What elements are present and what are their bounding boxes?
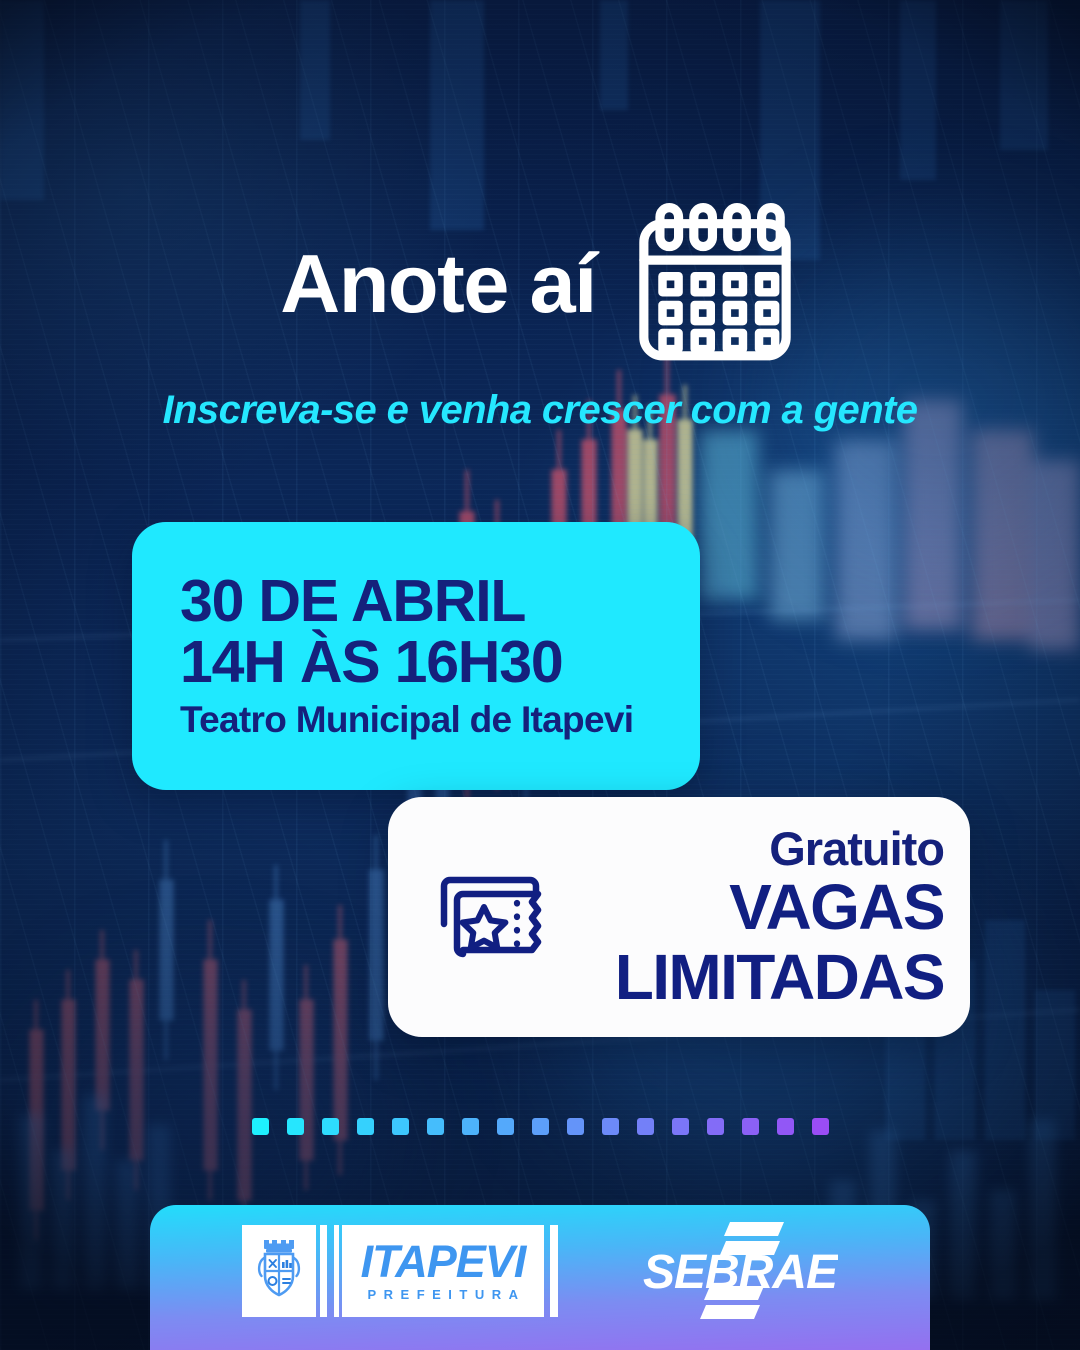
logo-divider-thin xyxy=(334,1225,339,1317)
itapevi-tagline: PREFEITURA xyxy=(360,1287,525,1302)
divider-dot xyxy=(567,1118,584,1135)
headline-row: Anote aí xyxy=(0,200,1080,366)
vagas-card: Gratuito VAGAS LIMITADAS xyxy=(388,797,970,1037)
divider-dot xyxy=(462,1118,479,1135)
footer-logo-bar: ITAPEVI PREFEITURA SEBRAE xyxy=(150,1205,930,1350)
divider-dot xyxy=(497,1118,514,1135)
sebrae-logo: SEBRAE xyxy=(642,1220,838,1322)
price-label: Gratuito xyxy=(769,825,944,873)
event-date: 30 DE ABRIL xyxy=(180,571,700,632)
vagas-text-block: Gratuito VAGAS LIMITADAS xyxy=(590,825,944,1009)
divider-dot xyxy=(637,1118,654,1135)
divider-dot xyxy=(252,1118,269,1135)
calendar-icon xyxy=(630,200,800,366)
divider-dot xyxy=(812,1118,829,1135)
divider-dot xyxy=(672,1118,689,1135)
divider-dot xyxy=(287,1118,304,1135)
divider-dot xyxy=(742,1118,759,1135)
logo-end-bar xyxy=(550,1225,558,1317)
divider-dot xyxy=(532,1118,549,1135)
divider-dot xyxy=(322,1118,339,1135)
poster-root: Anote aí xyxy=(0,0,1080,1350)
subtitle: Inscreva-se e venha crescer com a gente xyxy=(0,388,1080,433)
divider-dot xyxy=(777,1118,794,1135)
dotted-divider xyxy=(0,1118,1080,1135)
itapevi-coat-of-arms-icon xyxy=(252,1240,306,1302)
page-title: Anote aí xyxy=(280,242,595,325)
divider-dot xyxy=(707,1118,724,1135)
vagas-line-2: LIMITADAS xyxy=(615,945,944,1009)
logo-divider-thick xyxy=(320,1225,327,1317)
divider-dot xyxy=(427,1118,444,1135)
itapevi-wordmark: ITAPEVI xyxy=(361,1239,526,1284)
event-time: 14H ÀS 16H30 xyxy=(180,632,700,693)
sebrae-wordmark-text: SEBRAE xyxy=(643,1246,838,1299)
event-venue: Teatro Municipal de Itapevi xyxy=(180,699,700,741)
divider-dot xyxy=(602,1118,619,1135)
ticket-star-icon xyxy=(426,862,566,972)
vagas-line-1: VAGAS xyxy=(729,875,944,939)
divider-dot xyxy=(357,1118,374,1135)
itapevi-prefeitura-logo: ITAPEVI PREFEITURA xyxy=(242,1225,557,1317)
date-card: 30 DE ABRIL 14H ÀS 16H30 Teatro Municipa… xyxy=(132,522,700,790)
itapevi-wordmark-box: ITAPEVI PREFEITURA xyxy=(342,1225,543,1317)
divider-dot xyxy=(392,1118,409,1135)
itapevi-crest-box xyxy=(242,1225,316,1317)
